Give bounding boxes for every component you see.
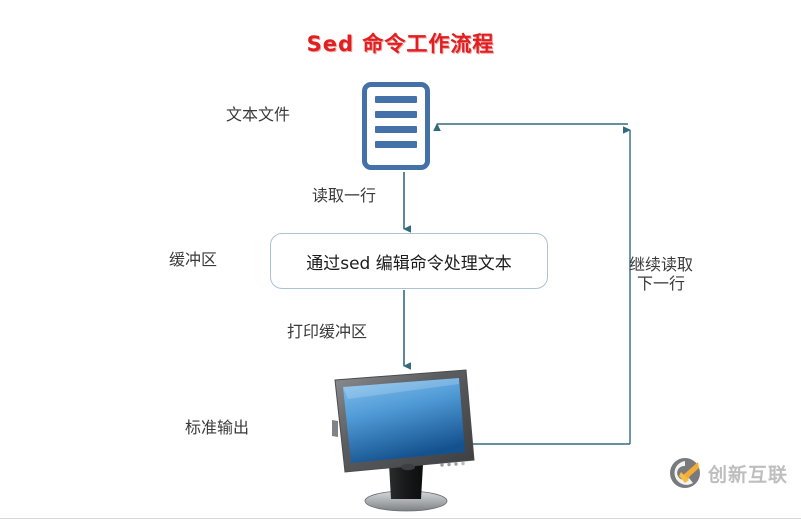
monitor-icon [322,368,487,513]
document-icon [362,82,430,170]
document-line [375,111,417,118]
label-continue-read-line2: 下一行 [629,274,693,293]
monitor-button [454,462,457,465]
label-continue-read-line1: 继续读取 [629,255,693,274]
page-bottom-divider [0,518,801,519]
buffer-node: 通过sed 编辑命令处理文本 [270,233,548,289]
swoosh-circle-logo-icon [668,456,702,490]
document-line [375,141,417,148]
watermark: 创新互联 [668,450,796,496]
monitor-side-vent [332,420,338,437]
document-line [375,126,417,133]
monitor-button [440,463,443,466]
diagram-canvas: Sed 命令工作流程 通过sed 编辑命令处理文本 [0,0,801,523]
monitor-brand-mark [401,464,415,470]
label-text-file: 文本文件 [226,105,290,124]
label-standard-output: 标准输出 [185,418,249,437]
buffer-node-text: 通过sed 编辑命令处理文本 [306,249,512,274]
monitor-power-led [461,462,464,465]
monitor-button [447,463,450,466]
label-buffer: 缓冲区 [169,250,217,269]
label-read-line: 读取一行 [312,186,376,205]
watermark-text: 创新互联 [708,460,788,487]
label-continue-read: 继续读取 下一行 [629,255,693,293]
page-title: Sed 命令工作流程 [0,28,801,58]
label-print-buffer: 打印缓冲区 [287,322,367,341]
document-line [375,96,417,103]
